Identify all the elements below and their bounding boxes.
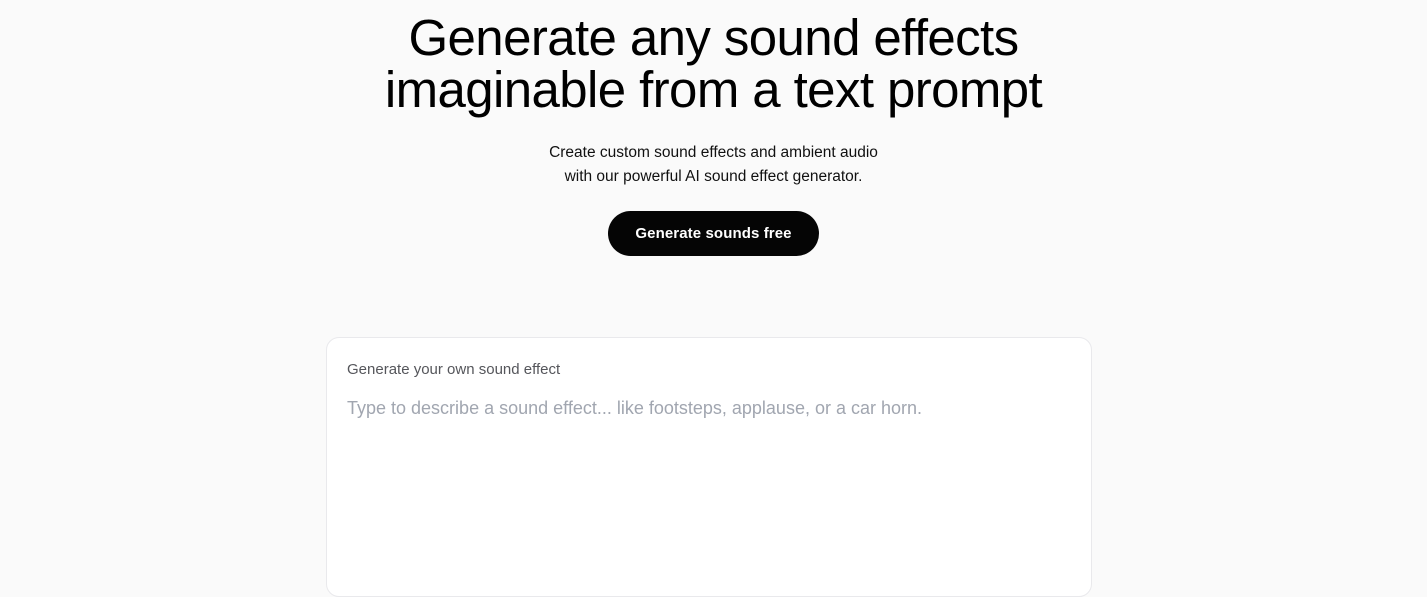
- landing-page: Generate any sound effects imaginable fr…: [0, 0, 1427, 551]
- cta-container: Generate sounds free: [0, 211, 1427, 256]
- hero-subtitle: Create custom sound effects and ambient …: [394, 141, 1034, 188]
- sound-effect-generator-card: Generate your own sound effect: [326, 337, 1092, 597]
- sound-effect-prompt-input[interactable]: [347, 395, 1071, 545]
- hero-section: Generate any sound effects imaginable fr…: [0, 0, 1427, 256]
- generate-sounds-free-button[interactable]: Generate sounds free: [608, 211, 818, 256]
- page-title: Generate any sound effects imaginable fr…: [334, 12, 1094, 116]
- generator-card-container: Generate your own sound effect: [326, 337, 1092, 597]
- generator-card-label: Generate your own sound effect: [347, 360, 1071, 380]
